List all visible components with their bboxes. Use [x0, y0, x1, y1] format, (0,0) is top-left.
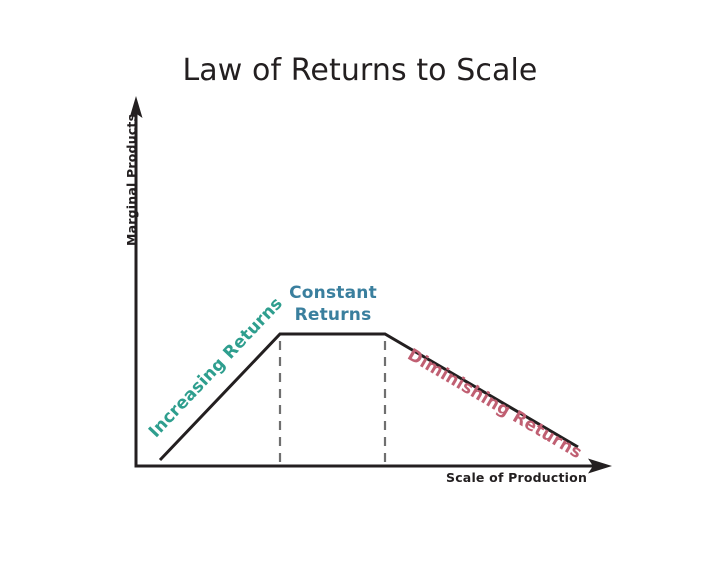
y-axis-label: Marginal Products [124, 114, 139, 246]
x-axis-label: Scale of Production [446, 470, 587, 485]
annotation-constant-returns: ConstantReturns [258, 282, 408, 326]
annotation-constant-returns-line2: Returns [258, 304, 408, 326]
diagram-canvas: Law of Returns to Scale Marginal Product… [0, 0, 720, 576]
annotation-constant-returns-line1: Constant [289, 283, 377, 303]
